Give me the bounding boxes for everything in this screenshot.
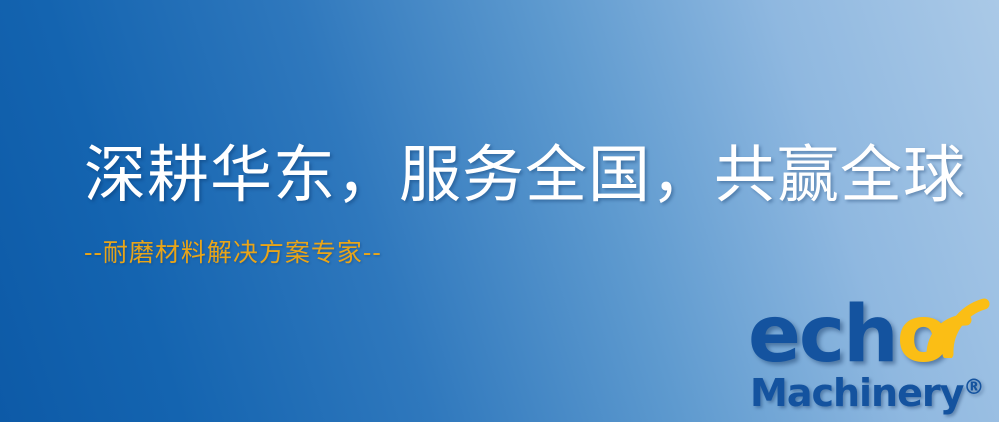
signal-waves-icon (918, 292, 992, 358)
logo-text-ech: ech (748, 290, 897, 380)
hero-banner: 深耕华东，服务全国，共赢全球 --耐磨材料解决方案专家-- echo Machi… (0, 0, 999, 422)
echo-machinery-logo: echo Machinery® (748, 296, 994, 416)
banner-text-block: 深耕华东，服务全国，共赢全球 --耐磨材料解决方案专家-- (84, 142, 944, 269)
registered-trademark-icon: ® (963, 375, 984, 399)
banner-headline: 深耕华东，服务全国，共赢全球 (84, 142, 944, 207)
banner-subtitle: --耐磨材料解决方案专家-- (84, 233, 944, 269)
logo-subtext: Machinery® (750, 368, 984, 412)
logo-text-machinery: Machinery (750, 371, 963, 415)
